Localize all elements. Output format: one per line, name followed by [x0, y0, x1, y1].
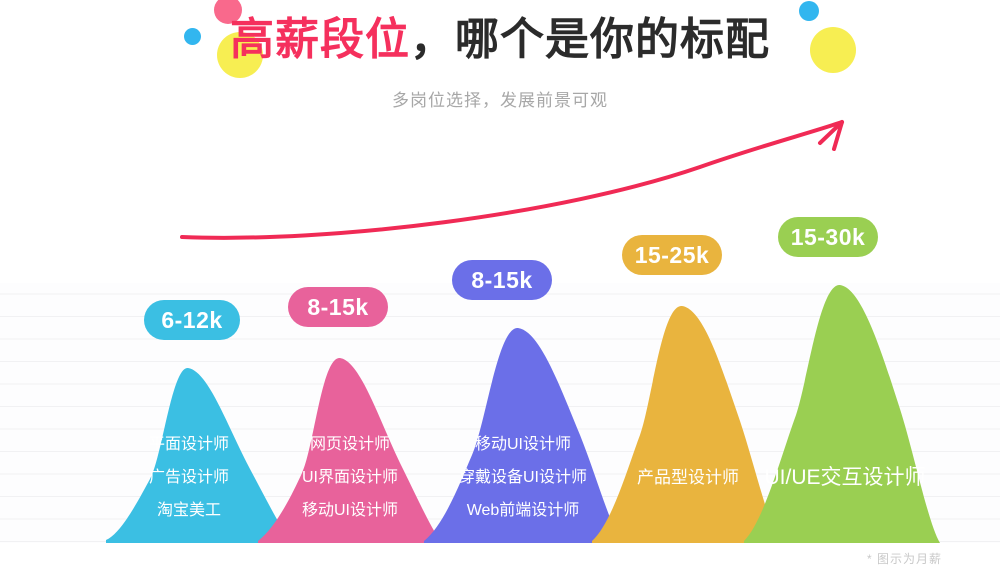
title-rest-text: ，哪个是你的标配: [410, 15, 770, 64]
salary-range-text: 15-25k: [635, 242, 710, 268]
salary-range-text: 8-15k: [307, 294, 368, 320]
footnote: * 图示为月薪: [867, 550, 942, 567]
hill-uiue-designer[interactable]: [744, 285, 940, 543]
salary-range-text: 8-15k: [471, 267, 532, 293]
hill-graphic-designer[interactable]: [106, 368, 292, 543]
hill-mobile-ui-designer[interactable]: [424, 328, 622, 543]
hill-mobile-ui-designer-salary-pill[interactable]: 8-15k: [452, 260, 552, 300]
title-highlight-text: 高薪段位: [230, 15, 410, 64]
hill-web-designer-salary-pill[interactable]: 8-15k: [288, 287, 388, 327]
hill-product-designer[interactable]: [592, 306, 780, 543]
hill-web-designer[interactable]: [258, 358, 442, 543]
infographic-canvas: 高薪段位，哪个是你的标配 多岗位选择，发展前景可观 平面设计师广告设计师淘宝美工…: [0, 0, 1000, 581]
salary-range-text: 15-30k: [791, 224, 866, 250]
hill-product-designer-salary-pill[interactable]: 15-25k: [622, 235, 722, 275]
hill-graphic-designer-salary-pill[interactable]: 6-12k: [144, 300, 240, 340]
hill-uiue-designer-salary-pill[interactable]: 15-30k: [778, 217, 878, 257]
page-title: 高薪段位，哪个是你的标配: [0, 12, 1000, 68]
salary-range-text: 6-12k: [161, 307, 222, 333]
growth-arrow-line: [182, 122, 842, 238]
